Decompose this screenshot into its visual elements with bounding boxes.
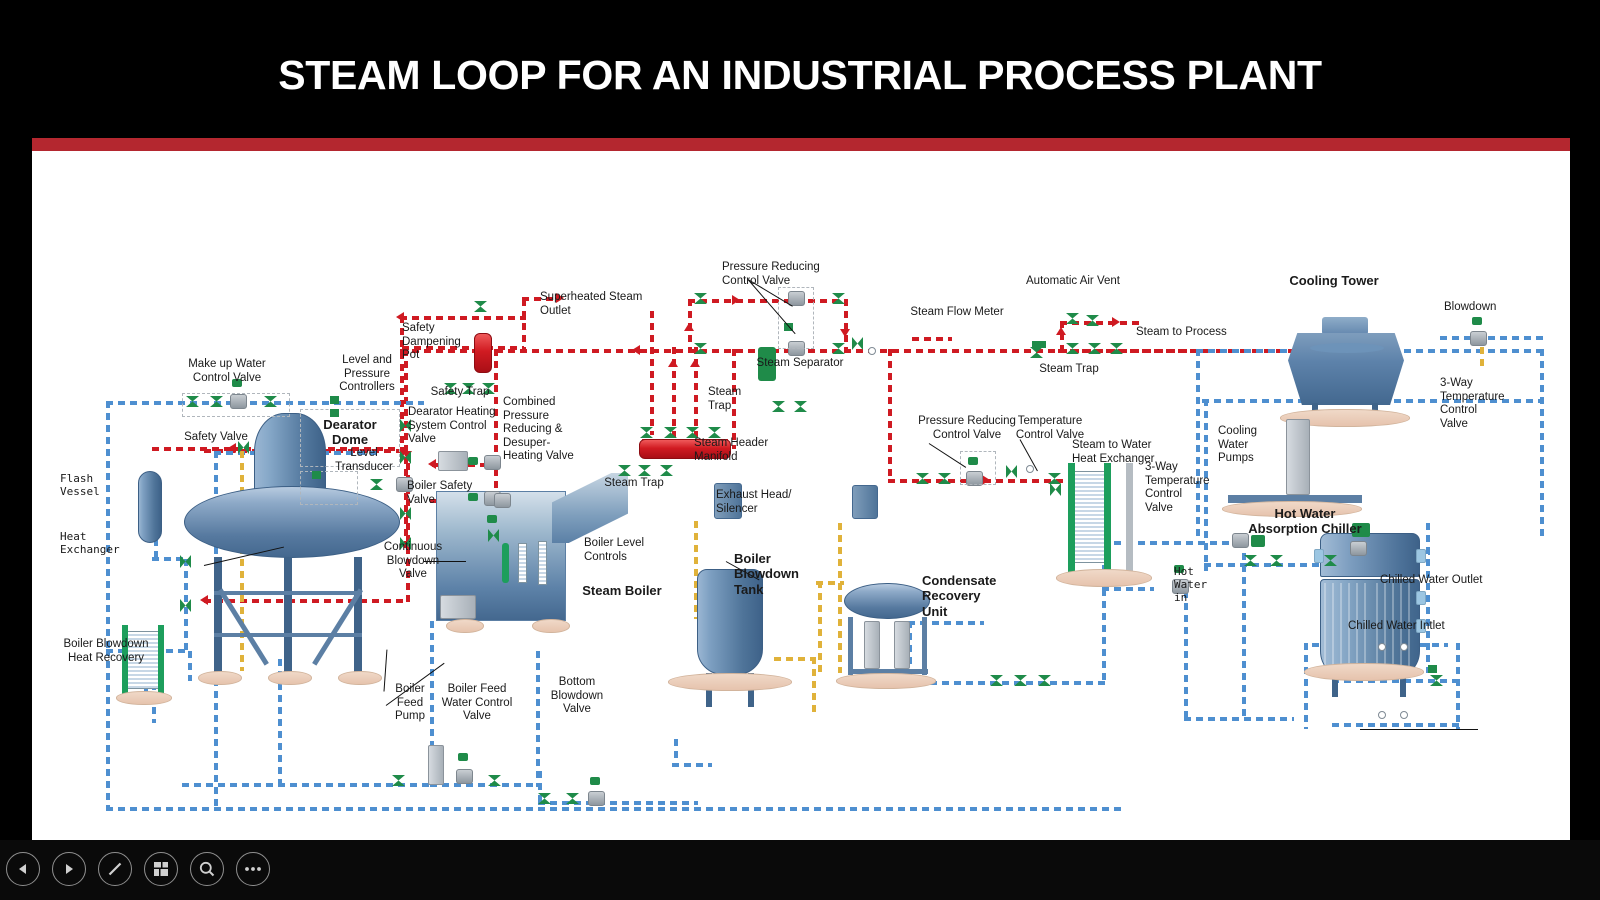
cru-exhaust-head bbox=[852, 485, 878, 519]
pipe-water-hx-hot-out bbox=[1102, 541, 1242, 545]
level-transducer-sensor bbox=[312, 471, 321, 479]
pipe-water-condensate-return bbox=[106, 807, 1126, 811]
dearator-footing-3 bbox=[338, 671, 382, 685]
label-steam-header-manifold: Steam Header Manifold bbox=[694, 437, 786, 464]
level-controller-sensor-1 bbox=[330, 396, 339, 404]
cru-frame-right bbox=[922, 617, 927, 675]
cooling-tower-fan bbox=[1310, 343, 1384, 353]
label-level-and-pressure-controllers: Level and Pressure Controllers bbox=[322, 354, 412, 395]
arrow-dearator-lower bbox=[200, 595, 208, 605]
steam-water-hx-frame bbox=[1126, 463, 1133, 573]
pipe-steam-to-process-main bbox=[1058, 349, 1206, 353]
chiller-flange-2 bbox=[1416, 549, 1426, 563]
pipe-water-hot-water-in bbox=[1242, 541, 1246, 719]
boiler-footing-2 bbox=[532, 619, 570, 633]
label-safety-dampening-pot: Safety Dampening Pot bbox=[402, 322, 472, 363]
pipe-water-cond-in-h bbox=[908, 621, 984, 625]
label-cooling-tower: Cooling Tower bbox=[1264, 273, 1404, 288]
pen-icon bbox=[106, 860, 124, 878]
cru-footing bbox=[836, 673, 936, 689]
arrow-main-header-1 bbox=[632, 345, 640, 355]
label-safety-valve: Safety Valve bbox=[176, 431, 256, 445]
pipe-steam-airvent-riser bbox=[1060, 321, 1064, 351]
bottom-blowdown-valve[interactable] bbox=[588, 791, 605, 806]
cooling-tower-blowdown-valve[interactable] bbox=[1470, 331, 1487, 346]
arrow-mid-riser-3 bbox=[690, 359, 700, 367]
pipe-cond-dearator bbox=[240, 451, 244, 671]
chiller-flange-3 bbox=[1416, 591, 1426, 605]
make-up-water-control-valve[interactable] bbox=[230, 394, 247, 409]
level-transducer-callout-box bbox=[300, 471, 358, 505]
steam-trap-lower-valve-1[interactable] bbox=[618, 465, 631, 476]
cru-pump-2 bbox=[894, 621, 910, 669]
pipe-steam-mid-riser-1 bbox=[650, 311, 654, 435]
pipe-steam-superheat-riser bbox=[522, 299, 526, 349]
pipe-water-feed-discharge bbox=[430, 783, 540, 787]
pipe-water-hw-bottom bbox=[1184, 717, 1294, 721]
chiller-gauge-3 bbox=[1378, 711, 1386, 719]
dearator-footing-1 bbox=[198, 671, 242, 685]
pipe-water-chill-right bbox=[1456, 643, 1460, 729]
pipe-water-hx-bypass bbox=[188, 651, 192, 681]
boiler-level-gauge-2 bbox=[538, 541, 547, 585]
label-flash-vessel: Flash Vessel bbox=[60, 473, 126, 499]
label-steam-trap-process: Steam Trap bbox=[1032, 363, 1106, 377]
bottom-blowdown-actuator[interactable] bbox=[590, 777, 600, 785]
label-cooling-water-pumps: Cooling Water Pumps bbox=[1218, 425, 1276, 466]
label-hot-water-in: Hot Water in bbox=[1174, 566, 1224, 605]
steam-water-hx-col-left bbox=[1068, 463, 1075, 573]
label-exhaust-head-silencer: Exhaust Head/ Silencer bbox=[716, 489, 806, 516]
flash-vessel bbox=[138, 471, 162, 543]
boiler-burner bbox=[440, 595, 476, 619]
magnifier-icon bbox=[198, 860, 216, 878]
label-steam-separator: Steam Separator bbox=[750, 357, 850, 371]
boiler-footing-1 bbox=[446, 619, 484, 633]
pipe-cond-bd-out bbox=[774, 657, 816, 661]
label-boiler-level-controls: Boiler Level Controls bbox=[584, 537, 668, 564]
pipe-water-return-left bbox=[106, 649, 110, 811]
steam-water-hx-pack bbox=[1074, 471, 1106, 563]
pipe-water-bd-tank bbox=[672, 763, 712, 767]
pen-tool-button[interactable] bbox=[98, 852, 132, 886]
pipe-water-left-riser bbox=[106, 401, 110, 651]
label-pressure-reducing-control-valve-top: Pressure Reducing Control Valve bbox=[722, 261, 838, 288]
combined-prv-desuperheat-valve-1[interactable] bbox=[484, 455, 501, 470]
ct-blowdown-discharge bbox=[1480, 347, 1484, 367]
triangle-right-icon bbox=[62, 862, 76, 876]
pipe-cond-cru-vent bbox=[838, 523, 842, 673]
boiler-safety-valve[interactable] bbox=[494, 493, 511, 508]
boiler-feed-water-control-valve[interactable] bbox=[456, 769, 473, 784]
steam-water-hx-col-right bbox=[1104, 463, 1111, 573]
chiller-condenser-control-valve[interactable] bbox=[1350, 541, 1367, 556]
pipe-water-hw-left bbox=[1184, 591, 1188, 721]
label-boiler-blowdown-heat-recovery: Boiler Blowdown Heat Recovery bbox=[42, 638, 170, 665]
presenter-toolbar bbox=[0, 840, 1600, 900]
arrow-to-process bbox=[1112, 317, 1120, 327]
grid-icon bbox=[152, 860, 170, 878]
label-dearator-heating-system-control-valve: Dearator Heating System Control Valve bbox=[408, 406, 504, 447]
leader-chilled-water-outlet bbox=[1360, 729, 1478, 730]
label-steam-boiler: Steam Boiler bbox=[572, 583, 672, 598]
arrow-airvent-up bbox=[1056, 327, 1066, 335]
slide-overview-button[interactable] bbox=[144, 852, 178, 886]
boiler-feed-pump-body bbox=[428, 745, 444, 785]
arrow-mid-riser-2 bbox=[668, 359, 678, 367]
label-blowdown: Blowdown bbox=[1444, 301, 1524, 315]
combined-prv-actuator-1[interactable] bbox=[468, 457, 478, 465]
label-dearator-dome: Dearator Dome bbox=[304, 417, 396, 448]
label-steam-trap-header-lower: Steam Trap bbox=[594, 477, 674, 491]
pipe-steam-to-flowmeter bbox=[844, 349, 1062, 353]
chiller-gauge-2 bbox=[1400, 643, 1408, 651]
bd-tank-footing bbox=[668, 673, 792, 691]
label-bottom-blowdown-valve: Bottom Blowdown Valve bbox=[538, 676, 616, 717]
dearator-brace-1 bbox=[214, 591, 362, 595]
chiller-flange-1 bbox=[1314, 549, 1324, 563]
combined-prv-diaphragm bbox=[438, 451, 468, 471]
cru-receiver-tank bbox=[844, 583, 930, 619]
arrow-prv-right-down bbox=[840, 329, 850, 337]
safety-dampening-pot-vessel bbox=[474, 333, 492, 373]
dearator-leg-1 bbox=[214, 557, 222, 675]
chiller-footing bbox=[1304, 663, 1424, 681]
label-make-up-water-control-valve: Make up Water Control Valve bbox=[172, 358, 282, 385]
label-boiler-safety-valve: Boiler Safety Valve bbox=[407, 480, 487, 507]
pipe-water-feed-riser bbox=[536, 651, 540, 787]
label-chilled-water-inlet: Chilled Water Intlet bbox=[1348, 620, 1468, 634]
dearator-footing-2 bbox=[268, 671, 312, 685]
triangle-left-icon bbox=[16, 862, 30, 876]
steam-trap-lower-valve-3[interactable] bbox=[660, 465, 673, 476]
pipe-water-bottom-blowdown bbox=[538, 801, 698, 805]
steam-flow-meter-body bbox=[1032, 341, 1046, 348]
pipe-cond-bd-down bbox=[812, 657, 816, 717]
pipe-steam-hx-loop bbox=[912, 337, 952, 341]
dearator-leg-3 bbox=[354, 557, 362, 675]
safety-dampening-valve[interactable] bbox=[474, 301, 487, 312]
label-steam-trap-header-upper: Steam Trap bbox=[708, 386, 760, 413]
steam-water-hx-footing bbox=[1056, 569, 1152, 587]
label-automatic-air-vent: Automatic Air Vent bbox=[1012, 275, 1134, 289]
label-combined-prv-desuperheating-valve: Combined Pressure Reducing & Desuper- He… bbox=[503, 396, 585, 464]
pipe-water-ct-out bbox=[1392, 349, 1544, 353]
steam-trap-upper-valve-2[interactable] bbox=[794, 401, 807, 412]
cooling-tower-fan-stack bbox=[1322, 317, 1368, 335]
continuous-blowdown-actuator[interactable] bbox=[487, 515, 497, 523]
pipe-steam-hx-drop bbox=[888, 349, 892, 481]
pipe-cond-cru-down bbox=[818, 581, 822, 673]
valve-dearator-ctrl-inlet[interactable] bbox=[370, 479, 383, 490]
zoom-button[interactable] bbox=[190, 852, 224, 886]
three-way-tcv-right-actuator[interactable] bbox=[1251, 535, 1265, 547]
pipe-water-ct-blowdown bbox=[1440, 336, 1548, 340]
hx-safety-valve[interactable] bbox=[1006, 465, 1017, 478]
next-slide-button[interactable] bbox=[52, 852, 86, 886]
pipe-water-chill-in bbox=[1332, 723, 1460, 727]
chiller-gauge-1 bbox=[1378, 643, 1386, 651]
label-three-way-tcv-left: 3-Way Temperature Control Valve bbox=[1145, 461, 1211, 515]
label-three-way-tcv-right: 3-Way Temperature Control Valve bbox=[1440, 377, 1508, 431]
cooling-water-pump-body bbox=[1286, 419, 1310, 495]
cru-frame-left bbox=[848, 617, 853, 675]
chilled-water-outlet-sensor bbox=[1428, 665, 1437, 673]
dearator-brace-2 bbox=[214, 633, 362, 637]
label-hot-water-absorption-chiller: Hot Water Absorption Chiller bbox=[1230, 506, 1380, 537]
temperature-control-valve-stem[interactable] bbox=[1050, 483, 1061, 496]
bfw-control-valve-actuator[interactable] bbox=[458, 753, 468, 761]
presentation-stage: STEAM LOOP FOR AN INDUSTRIAL PROCESS PLA… bbox=[0, 0, 1600, 900]
label-level-transducer: Level Transducer bbox=[326, 447, 402, 474]
pipe-water-hx-hot-out2 bbox=[1102, 587, 1154, 591]
ellipsis-icon bbox=[243, 865, 263, 873]
heat-exchanger-footing bbox=[116, 691, 172, 705]
pressure-controller-sensor bbox=[330, 409, 339, 417]
label-continuous-blowdown-valve: Continuous Blowdown Valve bbox=[372, 541, 454, 582]
cru-pump-1 bbox=[864, 621, 880, 669]
label-condensate-recovery-unit: Condensate Recovery Unit bbox=[922, 573, 1002, 619]
ct-blowdown-actuator[interactable] bbox=[1472, 317, 1482, 325]
boiler-level-gauge-1 bbox=[518, 543, 527, 583]
arrow-steam-left-top bbox=[396, 312, 404, 322]
label-heat-exchanger: Heat Exchanger bbox=[60, 531, 140, 557]
pipe-steam-left-top bbox=[400, 316, 526, 320]
pipe-steam-dearator-lower bbox=[204, 599, 408, 603]
arrow-prv-left-up bbox=[684, 323, 694, 331]
chiller-gauge-4 bbox=[1400, 711, 1408, 719]
pipe-water-chiller-cond bbox=[1426, 523, 1430, 673]
more-options-button[interactable] bbox=[236, 852, 270, 886]
diagram-canvas: Make up Water Control Valve Level and Pr… bbox=[32, 151, 1570, 840]
label-boiler-feed-water-control-valve: Boiler Feed Water Control Valve bbox=[430, 683, 524, 724]
steam-loop-diagram: Make up Water Control Valve Level and Pr… bbox=[32, 151, 1570, 840]
label-chilled-water-outlet: Chilled Water Outlet bbox=[1380, 574, 1500, 588]
previous-slide-button[interactable] bbox=[6, 852, 40, 886]
hx-pressure-gauge bbox=[1026, 465, 1034, 473]
label-steam-to-process: Steam to Process bbox=[1136, 326, 1236, 340]
accent-strip bbox=[32, 138, 1570, 151]
dearator-storage-tank bbox=[184, 486, 400, 558]
steam-trap-upper-valve-1[interactable] bbox=[772, 401, 785, 412]
pipe-water-bd-drop bbox=[538, 771, 542, 805]
arrow-prv-branch bbox=[428, 459, 436, 469]
page-title: STEAM LOOP FOR AN INDUSTRIAL PROCESS PLA… bbox=[0, 52, 1600, 99]
label-superheated-steam-outlet: Superheated Steam Outlet bbox=[540, 291, 660, 318]
boiler-level-gauge-green bbox=[502, 543, 509, 583]
prv-callout-box bbox=[778, 287, 814, 349]
label-boiler-blowdown-tank: Boiler Blowdown Tank bbox=[734, 551, 804, 597]
separator-gauge bbox=[868, 347, 876, 355]
steam-trap-lower-valve-2[interactable] bbox=[638, 465, 651, 476]
pipe-water-chill-left bbox=[1304, 643, 1308, 729]
label-safety-trap: Safety Trap bbox=[424, 386, 496, 400]
pipe-water-ct-right bbox=[1540, 349, 1544, 539]
label-steam-flow-meter: Steam Flow Meter bbox=[902, 306, 1012, 320]
pipe-water-bd-tank-v bbox=[674, 739, 678, 767]
dearator-leg-2 bbox=[284, 557, 292, 675]
arrow-prv-top bbox=[732, 295, 740, 305]
